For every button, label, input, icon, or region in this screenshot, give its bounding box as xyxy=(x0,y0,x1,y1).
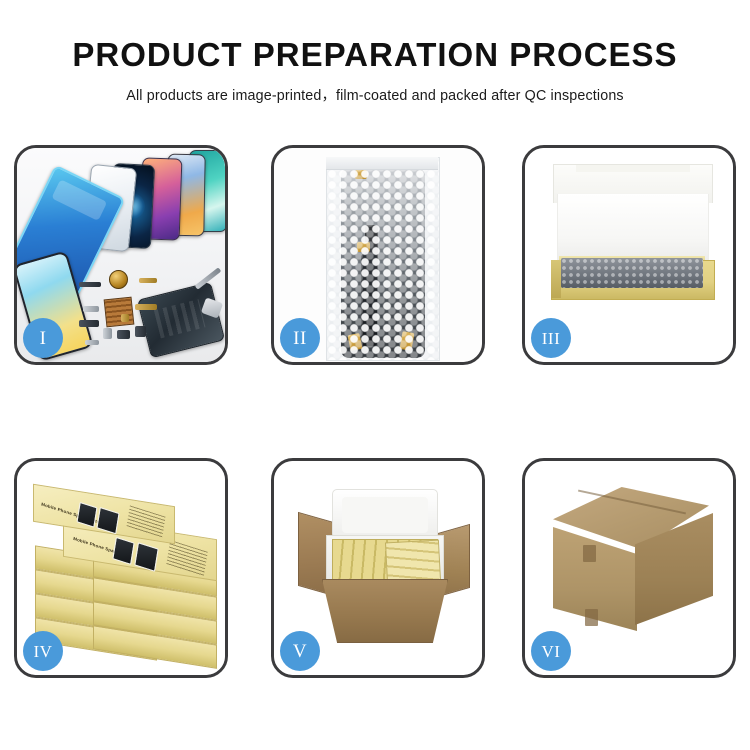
page-subtitle: All products are image-printed，film-coat… xyxy=(0,84,750,105)
page-title: PRODUCT PREPARATION PROCESS xyxy=(0,38,750,73)
carton-tape-lower xyxy=(585,609,598,626)
part-connector xyxy=(79,320,99,327)
camera-lens-part xyxy=(109,270,128,289)
chip-grid-part xyxy=(104,297,135,328)
step-panel: I xyxy=(14,145,228,365)
step-panel: VI xyxy=(522,458,736,678)
part-screw xyxy=(121,314,129,322)
part-vibrator xyxy=(117,330,130,339)
step-badge-3: III xyxy=(531,318,571,358)
yellow-box-stack: Mobile Phone Spare Parts Mobile Phone Sp… xyxy=(29,479,219,661)
part-speaker xyxy=(79,282,101,287)
part-button xyxy=(135,326,146,337)
yellow-box-left-side xyxy=(551,260,561,298)
step-panel: V xyxy=(271,458,485,678)
step-badge-6: VI xyxy=(531,631,571,671)
step-panel: III xyxy=(522,145,736,365)
part-antenna xyxy=(135,304,157,310)
process-step-5: V xyxy=(271,458,485,678)
process-step-6: VI xyxy=(522,458,736,678)
carton-tape-upper xyxy=(583,545,596,562)
yellow-boxes-row-b xyxy=(385,540,441,585)
process-step-1: I xyxy=(14,145,228,365)
step-badge-1: I xyxy=(23,318,63,358)
step-badge-2: II xyxy=(280,318,320,358)
step-badge-4: IV xyxy=(23,631,63,671)
box-phone-image-b xyxy=(134,542,158,572)
bubble-wrap-bag xyxy=(326,157,440,361)
process-step-grid: I xyxy=(14,145,736,679)
product-preparation-infographic: PRODUCT PREPARATION PROCESS All products… xyxy=(0,0,750,750)
part-sim-tray xyxy=(103,328,112,339)
step-badge-5: V xyxy=(280,631,320,671)
box-phone-image-a xyxy=(112,537,134,565)
process-step-3: III xyxy=(522,145,736,365)
header: PRODUCT PREPARATION PROCESS All products… xyxy=(0,38,750,105)
box-phone-image-d xyxy=(96,507,119,534)
process-step-2: II xyxy=(271,145,485,365)
step-panel: II xyxy=(271,145,485,365)
white-foam-sheet xyxy=(557,194,709,262)
part-bracket xyxy=(83,306,99,312)
grey-foam-padding xyxy=(561,258,703,288)
box-spec-lines-front xyxy=(166,540,208,577)
bubble-texture-offset xyxy=(327,158,439,360)
box-phone-image-c xyxy=(76,502,97,528)
carton-body xyxy=(322,579,448,643)
process-step-4: Mobile Phone Spare Parts Mobile Phone Sp… xyxy=(14,458,228,678)
part-gold-flex xyxy=(139,278,157,283)
box-spec-lines-rear xyxy=(127,505,166,537)
part-screw-set xyxy=(85,340,99,345)
foam-board-lid xyxy=(332,489,438,539)
bag-seal-fold xyxy=(326,157,438,170)
step-panel: Mobile Phone Spare Parts Mobile Phone Sp… xyxy=(14,458,228,678)
